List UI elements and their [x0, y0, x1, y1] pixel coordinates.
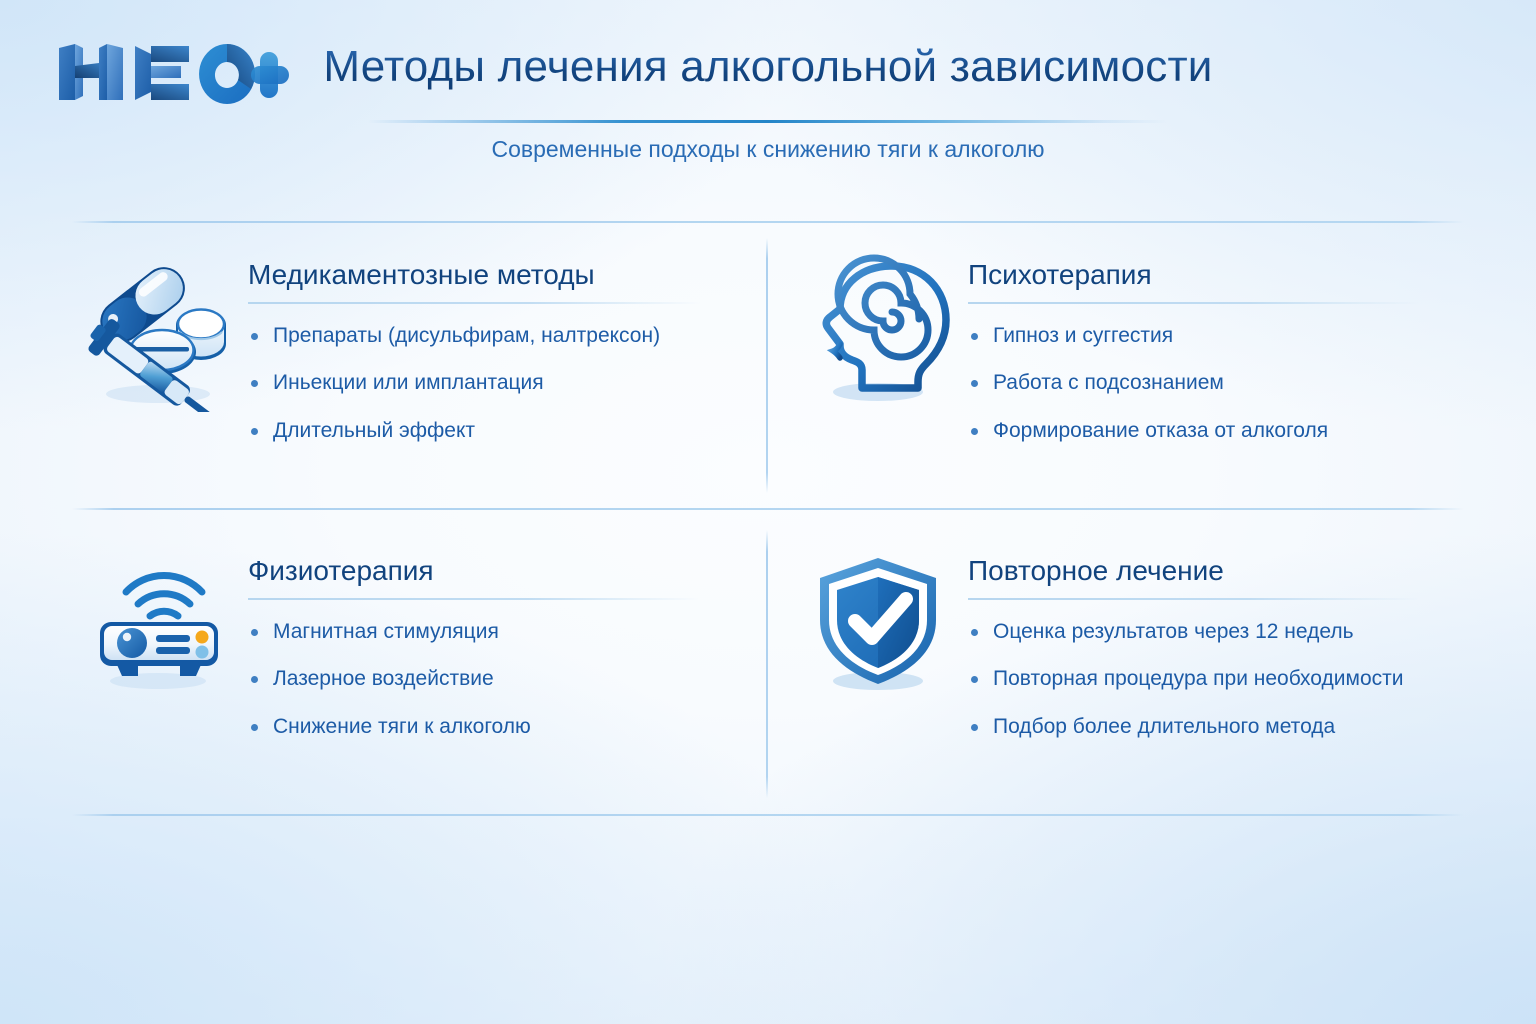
bullet-dot-icon [251, 428, 258, 435]
divider-middle [72, 508, 1464, 510]
neo-plus-logo [55, 38, 290, 106]
list-item-label: Препараты (дисульфирам, налтрексон) [273, 324, 660, 347]
bullet-dot-icon [251, 724, 258, 731]
list-item-label: Подбор более длительного метода [993, 715, 1335, 738]
list-item: Работа с подсознанием [968, 370, 1460, 396]
card-title: Физиотерапия [248, 556, 740, 587]
card-body: Повторное лечение Оценка результатов чер… [968, 548, 1460, 740]
bullet-list: Оценка результатов через 12 недель Повто… [968, 600, 1460, 740]
pills-syringe-icon [80, 252, 240, 412]
list-item: Длительный эффект [248, 418, 740, 444]
card-title: Медикаментозные методы [248, 260, 740, 291]
bullet-list: Препараты (дисульфирам, налтрексон) Инье… [248, 304, 740, 444]
list-item: Магнитная стимуляция [248, 619, 740, 645]
card-body: Физиотерапия Магнитная стимуляция Лазерн… [248, 548, 740, 740]
bullet-dot-icon [971, 676, 978, 683]
bullet-dot-icon [251, 380, 258, 387]
bullet-dot-icon [251, 676, 258, 683]
bullet-dot-icon [971, 333, 978, 340]
card-title: Повторное лечение [968, 556, 1460, 587]
bullet-dot-icon [971, 629, 978, 636]
infographic-poster: Методы лечения алкогольной зависимости С… [0, 0, 1536, 1024]
divider-vertical-upper [766, 238, 768, 493]
list-item-label: Гипноз и суггестия [993, 324, 1173, 347]
header: Методы лечения алкогольной зависимости С… [0, 0, 1536, 200]
bullet-dot-icon [971, 428, 978, 435]
list-item-label: Иньекции или имплантация [273, 371, 544, 394]
card-medikamentoznye-metody: Медикаментозные методы Препараты (дисуль… [80, 252, 740, 444]
list-item-label: Лазерное воздействие [273, 667, 494, 690]
list-item: Формирование отказа от алкоголя [968, 418, 1460, 444]
list-item: Оценка результатов через 12 недель [968, 619, 1460, 645]
divider-vertical-lower [766, 530, 768, 798]
list-item: Подбор более длительного метода [968, 714, 1460, 740]
card-psihoterapiya: Психотерапия Гипноз и суггестия Работа с… [800, 252, 1460, 444]
list-item-label: Снижение тяги к алкоголю [273, 715, 531, 738]
divider-bottom [72, 814, 1464, 816]
card-povtornoe-lechenie: Повторное лечение Оценка результатов чер… [800, 548, 1460, 740]
title-underline [368, 120, 1168, 123]
list-item-label: Длительный эффект [273, 419, 475, 442]
list-item: Препараты (дисульфирам, налтрексон) [248, 323, 740, 349]
head-spiral-icon [800, 252, 960, 412]
list-item: Гипноз и суггестия [968, 323, 1460, 349]
bullet-dot-icon [251, 333, 258, 340]
list-item: Снижение тяги к алкоголю [248, 714, 740, 740]
page-subtitle: Современные подходы к снижению тяги к ал… [300, 136, 1236, 163]
bullet-dot-icon [251, 629, 258, 636]
therapy-device-waves-icon [80, 548, 240, 698]
bullet-dot-icon [971, 724, 978, 731]
bullet-dot-icon [971, 380, 978, 387]
shield-check-icon [800, 548, 960, 698]
list-item-label: Формирование отказа от алкоголя [993, 419, 1328, 442]
bullet-list: Гипноз и суггестия Работа с подсознанием… [968, 304, 1460, 444]
list-item-label: Повторная процедура при необходимости [993, 667, 1403, 690]
card-body: Медикаментозные методы Препараты (дисуль… [248, 252, 740, 444]
bullet-list: Магнитная стимуляция Лазерное воздействи… [248, 600, 740, 740]
divider-top [72, 221, 1464, 223]
card-body: Психотерапия Гипноз и суггестия Работа с… [968, 252, 1460, 444]
card-title: Психотерапия [968, 260, 1460, 291]
page-title: Методы лечения алкогольной зависимости [300, 42, 1236, 92]
list-item: Иньекции или имплантация [248, 370, 740, 396]
list-item-label: Работа с подсознанием [993, 371, 1224, 394]
list-item: Повторная процедура при необходимости [968, 666, 1460, 692]
list-item: Лазерное воздействие [248, 666, 740, 692]
card-fizioterapiya: Физиотерапия Магнитная стимуляция Лазерн… [80, 548, 740, 740]
list-item-label: Оценка результатов через 12 недель [993, 620, 1354, 643]
list-item-label: Магнитная стимуляция [273, 620, 499, 643]
